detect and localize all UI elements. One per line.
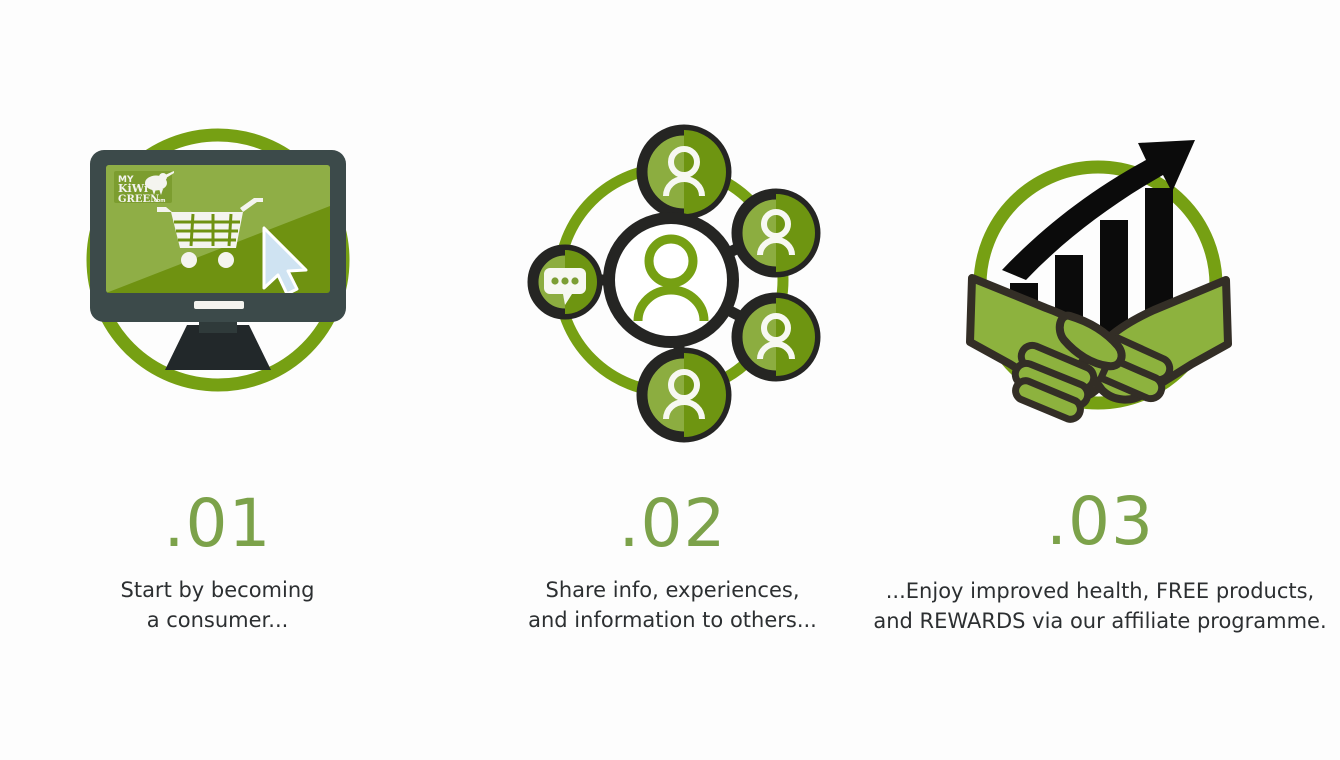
network-avatar-node-lower-right — [737, 298, 815, 376]
network-avatar-node-bottom — [642, 353, 726, 437]
central-user-node — [609, 218, 733, 342]
partnership-growth-handshake-icon — [950, 110, 1250, 420]
step-1-icon-area: MY KiWi GREEN .com — [40, 110, 395, 450]
step-3-icon-area — [860, 110, 1340, 450]
network-avatar-node-upper-right — [737, 194, 815, 272]
chat-bubble-node — [533, 250, 597, 314]
step-2-icon-area — [495, 110, 850, 450]
step-number-1: .01 — [40, 488, 395, 560]
step-number-2: .02 — [495, 488, 850, 560]
monitor-indicator-bar — [194, 301, 244, 309]
social-network-sharing-icon — [508, 110, 838, 440]
step-caption-2: Share info, experiences, and information… — [495, 575, 850, 635]
step-caption-1: Start by becoming a consumer... — [40, 575, 395, 635]
infographic-canvas: MY KiWi GREEN .com — [0, 0, 1340, 760]
screen-logo: MY KiWi GREEN .com — [114, 171, 174, 205]
step-card-2: .02 Share info, experiences, and informa… — [495, 0, 850, 760]
step-card-1: MY KiWi GREEN .com — [40, 0, 395, 760]
step-number-3: .03 — [860, 486, 1340, 558]
step-caption-3: ...Enjoy improved health, FREE products,… — [860, 576, 1340, 636]
online-shopping-monitor-icon: MY KiWi GREEN .com — [68, 110, 368, 410]
network-avatar-node-top — [642, 130, 726, 214]
step-card-3: .03 ...Enjoy improved health, FREE produ… — [860, 0, 1340, 760]
monitor-screen: MY KiWi GREEN .com — [106, 165, 330, 294]
logo-suffix: .com — [152, 198, 166, 204]
